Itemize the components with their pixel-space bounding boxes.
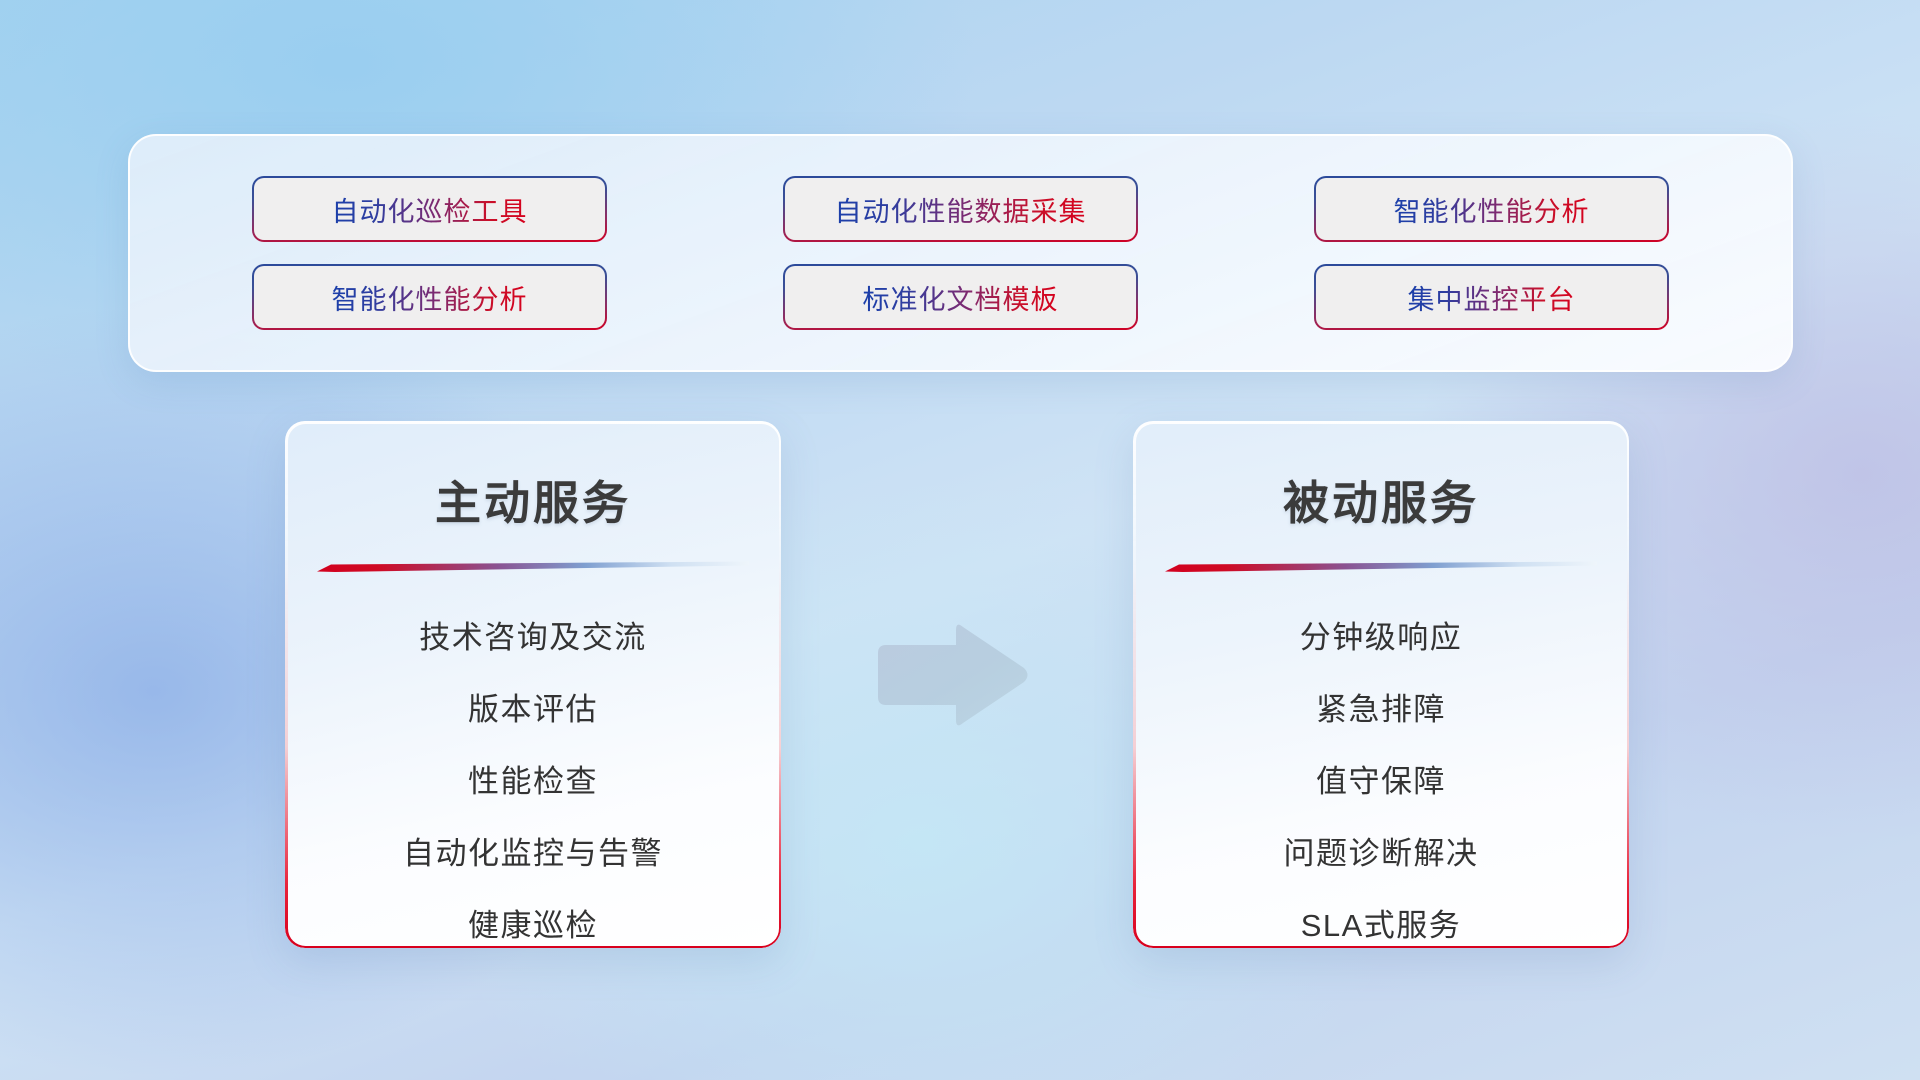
capability-tag-label: 自动化性能数据采集 [835,190,1087,229]
capability-tag-label: 智能化性能分析 [1394,190,1590,229]
arrow-right-icon [872,620,1032,730]
service-list-passive: 分钟级响应 紧急排障 值守保障 问题诊断解决 SLA式服务 [1159,602,1603,962]
list-item[interactable]: 健康巡检 [311,890,755,962]
capability-tag-standardized-document-template[interactable]: 标准化文档模板 [783,264,1138,330]
list-item[interactable]: SLA式服务 [1159,890,1603,962]
list-item[interactable]: 自动化监控与告警 [311,818,755,890]
capability-column-3: 智能化性能分析 集中监控平台 [1314,176,1669,330]
list-item[interactable]: 分钟级响应 [1159,602,1603,674]
list-item[interactable]: 版本评估 [311,674,755,746]
capability-tag-label: 智能化性能分析 [332,278,528,317]
capability-tag-intelligent-performance-analysis-1[interactable]: 智能化性能分析 [252,264,607,330]
capability-tag-automation-inspection-tool[interactable]: 自动化巡检工具 [252,176,607,242]
list-item[interactable]: 值守保障 [1159,746,1603,818]
service-card-passive[interactable]: 被动服务 分钟级响应 紧急排障 值守保障 [1133,421,1629,948]
capability-column-1: 自动化巡检工具 智能化性能分析 [252,176,607,330]
title-divider [317,561,749,572]
capability-tag-label: 标准化文档模板 [863,278,1059,317]
list-item[interactable]: 技术咨询及交流 [311,602,755,674]
capability-panel: 自动化巡检工具 智能化性能分析 自动化性能数据采集 标准化文档模板 智能化性能分… [128,134,1793,372]
title-divider [1165,561,1597,572]
card-title: 被动服务 [1159,467,1603,533]
list-item[interactable]: 问题诊断解决 [1159,818,1603,890]
list-item[interactable]: 紧急排障 [1159,674,1603,746]
service-card-active[interactable]: 主动服务 技术咨询及交流 版本评估 性能检查 [285,421,781,948]
service-list-active: 技术咨询及交流 版本评估 性能检查 自动化监控与告警 健康巡检 [311,602,755,962]
capability-column-2: 自动化性能数据采集 标准化文档模板 [783,176,1138,330]
capability-tag-label: 自动化巡检工具 [332,190,528,229]
list-item[interactable]: 性能检查 [311,746,755,818]
card-title: 主动服务 [311,467,755,533]
capability-tag-label: 集中监控平台 [1408,278,1576,317]
capability-tag-centralized-monitoring-platform[interactable]: 集中监控平台 [1314,264,1669,330]
slide-canvas: 自动化巡检工具 智能化性能分析 自动化性能数据采集 标准化文档模板 智能化性能分… [0,0,1920,1080]
capability-tag-intelligent-performance-analysis-2[interactable]: 智能化性能分析 [1314,176,1669,242]
capability-tag-automated-performance-data-collection[interactable]: 自动化性能数据采集 [783,176,1138,242]
